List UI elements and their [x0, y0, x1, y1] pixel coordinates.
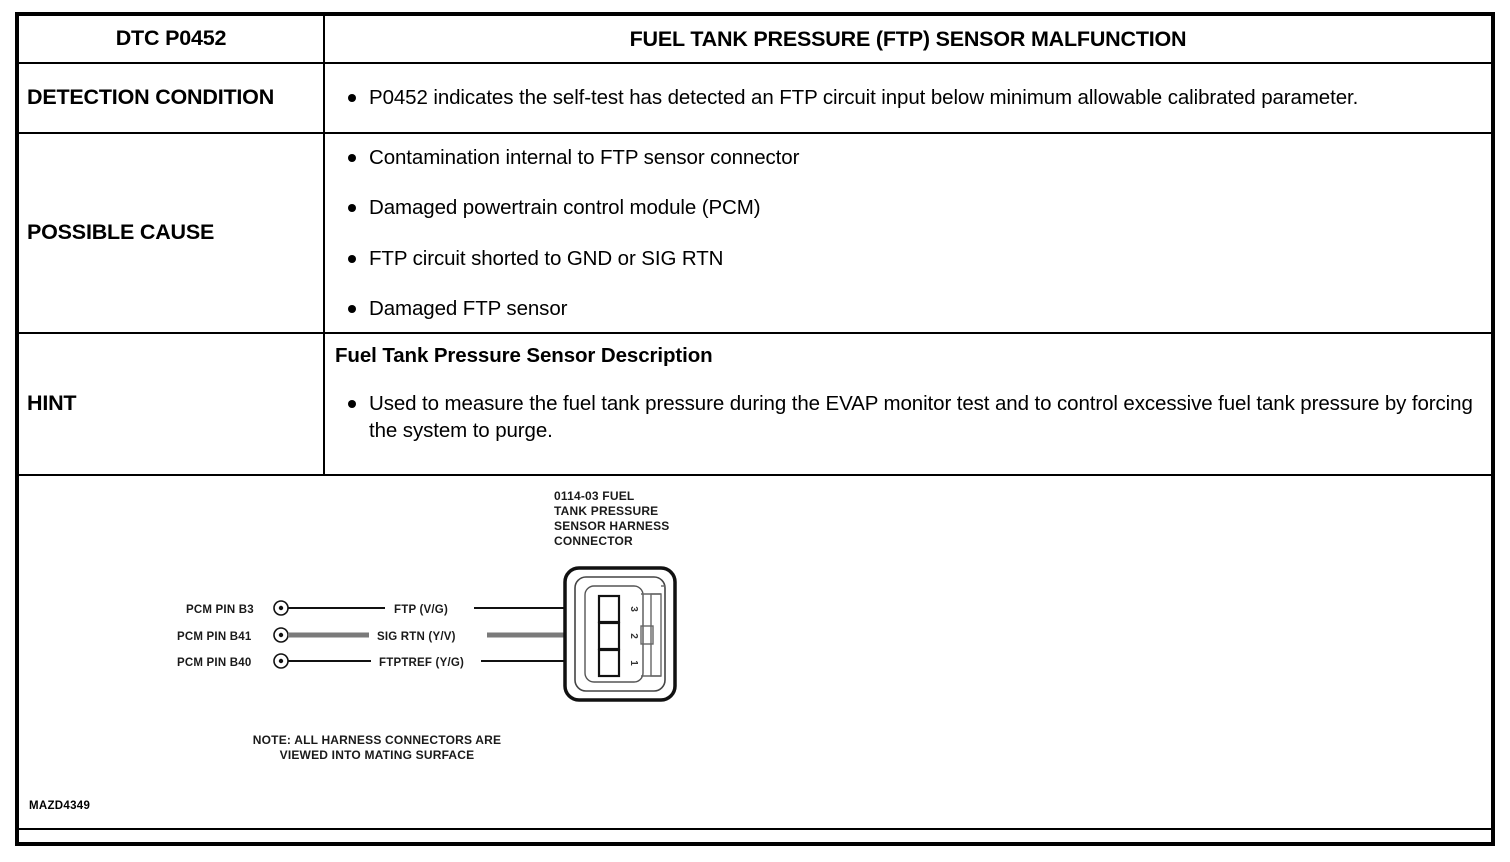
pin-label-b3: PCM PIN B3: [186, 604, 254, 616]
detection-condition-list: P0452 indicates the self-test has detect…: [333, 84, 1479, 111]
connector-label-line-1: TANK PRESSURE: [554, 504, 658, 518]
detection-condition-label: DETECTION CONDITION: [27, 86, 274, 110]
possible-cause-body: Contamination internal to FTP sensor con…: [325, 134, 1491, 332]
dtc-code-cell: DTC P0452: [19, 16, 325, 62]
detection-condition-label-cell: DETECTION CONDITION: [19, 64, 325, 132]
terminal-number-3: 3: [628, 606, 639, 612]
table-header-row: DTC P0452 FUEL TANK PRESSURE (FTP) SENSO…: [19, 16, 1491, 64]
circuit-label-sig-rtn: SIG RTN (Y/V): [377, 631, 456, 643]
hint-label-cell: HINT: [19, 334, 325, 474]
circuit-sig-rtn: PCM PIN B41 SIG RTN (Y/V): [177, 628, 564, 643]
wiring-diagram-svg: 0114-03 FUEL TANK PRESSURE SENSOR HARNES…: [19, 476, 1491, 816]
list-item: Damaged FTP sensor: [333, 295, 1479, 322]
diagram-note: NOTE: ALL HARNESS CONNECTORS ARE VIEWED …: [253, 733, 501, 762]
detection-condition-row: DETECTION CONDITION P0452 indicates the …: [19, 64, 1491, 134]
list-item: Used to measure the fuel tank pressure d…: [333, 390, 1479, 444]
possible-cause-label: POSSIBLE CAUSE: [27, 221, 214, 245]
document-page: DTC P0452 FUEL TANK PRESSURE (FTP) SENSO…: [0, 0, 1510, 862]
dtc-title: FUEL TANK PRESSURE (FTP) SENSOR MALFUNCT…: [325, 16, 1491, 62]
possible-cause-list: Contamination internal to FTP sensor con…: [333, 144, 1479, 321]
figure-id-code: MAZD4349: [29, 800, 90, 812]
pin-label-b40: PCM PIN B40: [177, 657, 251, 669]
wiring-diagram: 0114-03 FUEL TANK PRESSURE SENSOR HARNES…: [19, 476, 1491, 844]
connector-label-line-0: 0114-03 FUEL: [554, 489, 634, 503]
hint-row: HINT Fuel Tank Pressure Sensor Descripti…: [19, 334, 1491, 476]
hint-body: Fuel Tank Pressure Sensor Description Us…: [325, 334, 1491, 474]
connector-label-line-2: SENSOR HARNESS: [554, 519, 670, 533]
circuit-ftp: PCM PIN B3 FTP (V/G): [186, 601, 564, 616]
dtc-code-label: DTC P0452: [116, 27, 227, 51]
circuit-ftptref: PCM PIN B40 FTPTREF (Y/G): [177, 654, 564, 669]
list-item: P0452 indicates the self-test has detect…: [333, 84, 1479, 111]
footer-rule: [19, 828, 1491, 830]
terminal-number-2: 2: [628, 633, 639, 639]
possible-cause-row: POSSIBLE CAUSE Contamination internal to…: [19, 134, 1491, 334]
detection-condition-body: P0452 indicates the self-test has detect…: [325, 64, 1491, 132]
list-item: Contamination internal to FTP sensor con…: [333, 144, 1479, 171]
hint-list: Used to measure the fuel tank pressure d…: [333, 390, 1479, 444]
hint-heading: Fuel Tank Pressure Sensor Description: [335, 344, 1479, 368]
connector-label-line-3: CONNECTOR: [554, 534, 633, 548]
list-item: FTP circuit shorted to GND or SIG RTN: [333, 245, 1479, 272]
hint-label: HINT: [27, 392, 76, 416]
possible-cause-label-cell: POSSIBLE CAUSE: [19, 134, 325, 332]
note-line-0: NOTE: ALL HARNESS CONNECTORS ARE: [253, 733, 501, 747]
pin-label-b41: PCM PIN B41: [177, 631, 252, 643]
list-item: Damaged powertrain control module (PCM): [333, 194, 1479, 221]
terminal-number-1: 1: [628, 660, 639, 666]
connector-callout-label: 0114-03 FUEL TANK PRESSURE SENSOR HARNES…: [554, 489, 670, 548]
connector-body: 3 2 1: [565, 568, 675, 700]
wiring-diagram-row: 0114-03 FUEL TANK PRESSURE SENSOR HARNES…: [19, 476, 1491, 844]
circuit-label-ftp: FTP (V/G): [394, 604, 448, 616]
circuit-label-ftptref: FTPTREF (Y/G): [379, 657, 464, 669]
dtc-table: DTC P0452 FUEL TANK PRESSURE (FTP) SENSO…: [15, 12, 1495, 846]
note-line-1: VIEWED INTO MATING SURFACE: [280, 748, 475, 762]
